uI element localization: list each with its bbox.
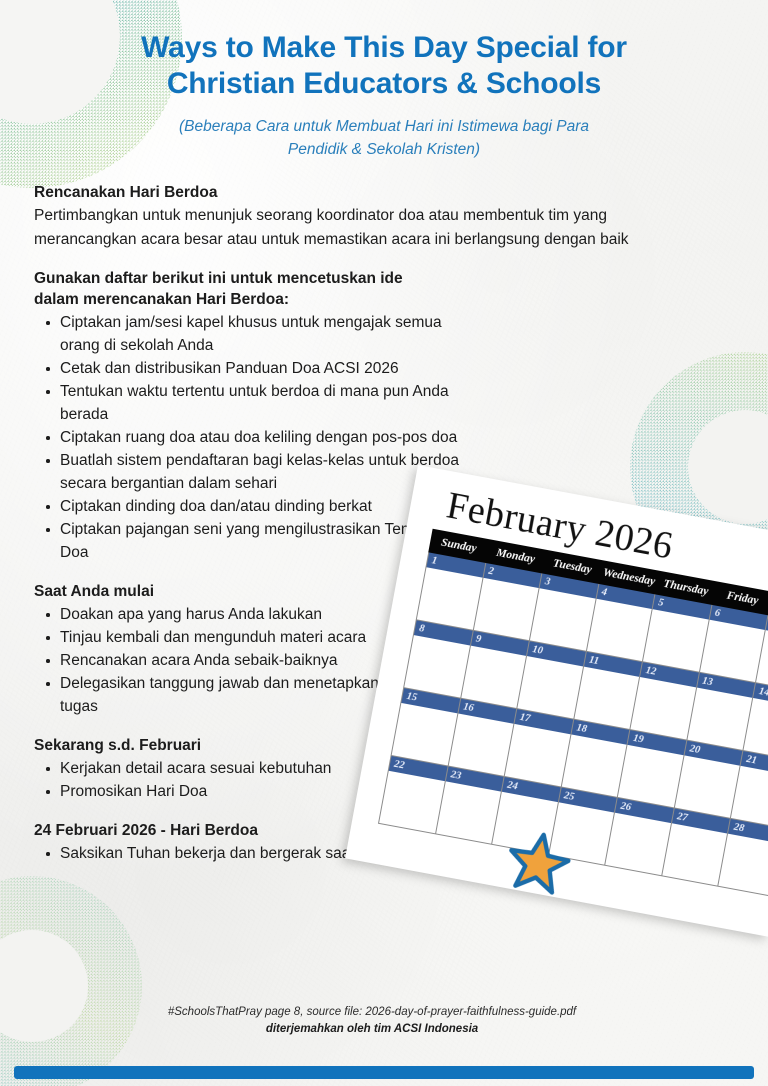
calendar-day-number: 26: [616, 800, 632, 813]
section-rencanakan-hari-berdoa: Rencanakan Hari Berdoa Pertimbangkan unt…: [34, 182, 734, 251]
list-item: Ciptakan ruang doa atau doa keliling den…: [34, 426, 464, 449]
calendar-day-number: 22: [389, 758, 405, 771]
calendar-day-number: 15: [402, 690, 418, 703]
list-item: Buatlah sistem pendaftaran bagi kelas-ke…: [34, 449, 464, 495]
calendar-day-number: 27: [672, 810, 688, 823]
footer-credit-text: diterjemahkan oleh tim ACSI Indonesia: [0, 1021, 744, 1038]
calendar-day-number: 12: [641, 664, 657, 677]
page-header: Ways to Make This Day Special for Christ…: [0, 30, 768, 161]
halftone-arc-bottom-left-icon: [0, 876, 142, 1086]
bullet-list: Ciptakan jam/sesi kapel khusus untuk men…: [34, 311, 464, 564]
calendar-day-number: 8: [414, 622, 425, 635]
calendar-day-number: 1: [427, 554, 438, 567]
calendar-day-number: 6: [710, 607, 721, 620]
page-title-line-2: Christian Educators & Schools: [0, 66, 768, 102]
calendar-day-number: 18: [572, 722, 588, 735]
page-subtitle-line-1: (Beberapa Cara untuk Membuat Hari ini Is…: [0, 115, 768, 138]
page-canvas: Ways to Make This Day Special for Christ…: [0, 0, 768, 1086]
calendar-day-number: 9: [471, 633, 482, 646]
list-item: Cetak dan distribusikan Panduan Doa ACSI…: [34, 357, 464, 380]
calendar-sheet: February 2026 Sunday Monday Tuesday Wedn…: [345, 465, 768, 937]
calendar-day-number: 24: [502, 779, 518, 792]
calendar-day-number: 28: [729, 821, 745, 834]
calendar-day-number: 25: [559, 789, 575, 802]
section-heading-line-1: Gunakan daftar berikut ini untuk mencetu…: [34, 268, 734, 289]
calendar-day-number: 5: [653, 596, 664, 609]
list-item: Ciptakan jam/sesi kapel khusus untuk men…: [34, 311, 464, 357]
footer-source-text: #SchoolsThatPray page 8, source file: 20…: [0, 1004, 744, 1021]
calendar-day-number: 20: [685, 743, 701, 756]
calendar-day-number: 23: [446, 769, 462, 782]
page-footer: #SchoolsThatPray page 8, source file: 20…: [0, 1004, 768, 1038]
calendar-day-number: 16: [458, 701, 474, 714]
calendar-day-number: 21: [741, 753, 757, 766]
list-item: Ciptakan dinding doa dan/atau dinding be…: [34, 495, 464, 518]
page-subtitle-line-2: Pendidik & Sekolah Kristen): [0, 138, 768, 161]
calendar-day-number: 3: [540, 575, 551, 588]
calendar-day-number: 10: [528, 643, 544, 656]
calendar-day-number: 2: [483, 565, 494, 578]
list-item: Tentukan waktu tertentu untuk berdoa di …: [34, 380, 464, 426]
list-item: Ciptakan pajangan seni yang mengilustras…: [34, 518, 464, 564]
section-paragraph-line-1: Pertimbangkan untuk menunjuk seorang koo…: [34, 204, 734, 227]
calendar-image: February 2026 Sunday Monday Tuesday Wedn…: [341, 465, 768, 956]
calendar-day-number: 17: [515, 711, 531, 724]
calendar-grid: Sunday Monday Tuesday Wednesday Thursday…: [378, 529, 768, 898]
calendar-day-number: 14: [754, 685, 768, 698]
bottom-accent-bar: [14, 1066, 754, 1079]
calendar-day-number: 19: [628, 732, 644, 745]
section-heading: Rencanakan Hari Berdoa: [34, 182, 734, 203]
calendar-day-number: 11: [584, 654, 600, 667]
section-paragraph-line-2: merancangkan acara besar atau untuk mema…: [34, 228, 734, 251]
page-title-line-1: Ways to Make This Day Special for: [0, 30, 768, 66]
calendar-day-number: 4: [597, 586, 608, 599]
calendar-day-number: 13: [697, 675, 713, 688]
page-subtitle: (Beberapa Cara untuk Membuat Hari ini Is…: [0, 115, 768, 161]
section-heading-line-2: dalam merencanakan Hari Berdoa:: [34, 289, 734, 310]
